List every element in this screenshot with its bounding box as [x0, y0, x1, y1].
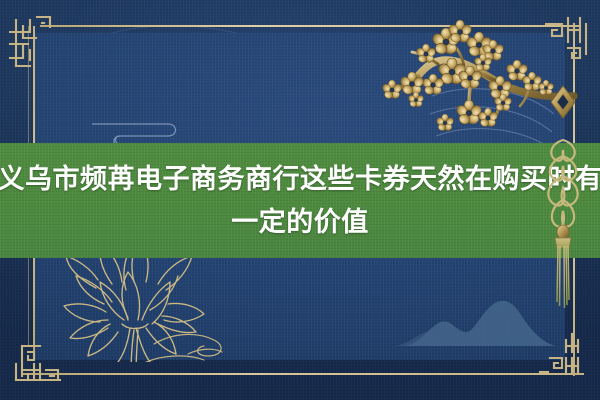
headline-block: 义乌市频苒电子商务商行这些卡券天然在购买时有 一定的价值	[0, 143, 600, 258]
frame-line-bottom	[22, 373, 584, 375]
headline-line-1: 义乌市频苒电子商务商行这些卡券天然在购买时有	[0, 159, 600, 200]
chinese-knot-tassel-icon	[538, 52, 588, 312]
corner-meander-top-left-icon	[6, 14, 62, 74]
chinese-style-banner: 义乌市频苒电子商务商行这些卡券天然在购买时有 一定的价值	[0, 0, 600, 400]
headline-line-2: 一定的价值	[231, 202, 369, 243]
